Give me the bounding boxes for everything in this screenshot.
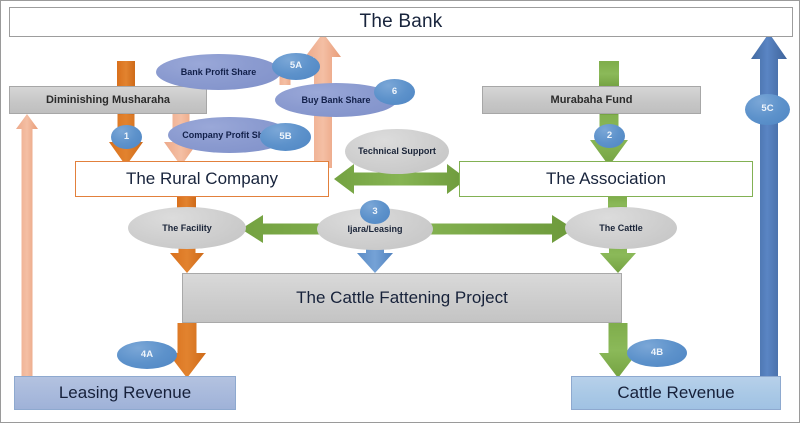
bank-label: The Bank <box>360 11 443 33</box>
badge-3-label: 3 <box>372 207 377 218</box>
bank-profit-share-label: Bank Profit Share <box>181 67 257 77</box>
badge-2-label: 2 <box>607 131 612 142</box>
badge-4b: 4B <box>627 339 687 367</box>
badge-2: 2 <box>594 124 625 148</box>
technical-support-ellipse: Technical Support <box>345 129 449 174</box>
association-box: The Association <box>459 161 753 197</box>
facility-ellipse: The Facility <box>128 207 246 249</box>
arrow-cattle-revenue-to-bank <box>751 33 787 379</box>
cattle-label: The Cattle <box>599 223 643 233</box>
badge-4a: 4A <box>117 341 177 369</box>
ijara-leasing-label: Ijara/Leasing <box>347 224 402 234</box>
cattle-revenue-box: Cattle Revenue <box>571 376 781 410</box>
association-label: The Association <box>546 169 666 189</box>
badge-5b: 5B <box>260 123 311 151</box>
diagram-canvas: The Bank Diminishing Musharaha Murabaha … <box>0 0 800 423</box>
technical-support-label: Technical Support <box>358 146 436 156</box>
cattle-revenue-label: Cattle Revenue <box>617 383 734 403</box>
diminishing-musharaha-box: Diminishing Musharaha <box>9 86 207 114</box>
badge-1-label: 1 <box>124 132 129 143</box>
badge-5c: 5C <box>745 94 790 125</box>
cattle-ellipse: The Cattle <box>565 207 677 249</box>
badge-5b-label: 5B <box>279 132 291 143</box>
badge-4a-label: 4A <box>141 350 153 361</box>
cattle-fattening-project-label: The Cattle Fattening Project <box>296 288 508 308</box>
leasing-revenue-box: Leasing Revenue <box>14 376 236 410</box>
arrow-leasing-revenue-to-musharaha <box>16 114 38 376</box>
badge-6-label: 6 <box>392 87 397 98</box>
badge-6: 6 <box>374 79 415 105</box>
badge-5a: 5A <box>272 53 320 80</box>
leasing-revenue-label: Leasing Revenue <box>59 383 191 403</box>
rural-company-label: The Rural Company <box>126 169 278 189</box>
diminishing-musharaha-label: Diminishing Musharaha <box>46 94 170 106</box>
badge-3: 3 <box>360 200 390 224</box>
badge-1: 1 <box>111 125 142 149</box>
murabaha-fund-label: Murabaha Fund <box>551 94 633 106</box>
rural-company-box: The Rural Company <box>75 161 329 197</box>
cattle-fattening-project-box: The Cattle Fattening Project <box>182 273 622 323</box>
badge-4b-label: 4B <box>651 348 663 359</box>
murabaha-fund-box: Murabaha Fund <box>482 86 701 114</box>
badge-5c-label: 5C <box>761 104 773 115</box>
facility-label: The Facility <box>162 223 212 233</box>
bank-box: The Bank <box>9 7 793 37</box>
bank-profit-share-ellipse: Bank Profit Share <box>156 54 281 90</box>
buy-bank-share-label: Buy Bank Share <box>301 95 370 105</box>
badge-5a-label: 5A <box>290 61 302 72</box>
